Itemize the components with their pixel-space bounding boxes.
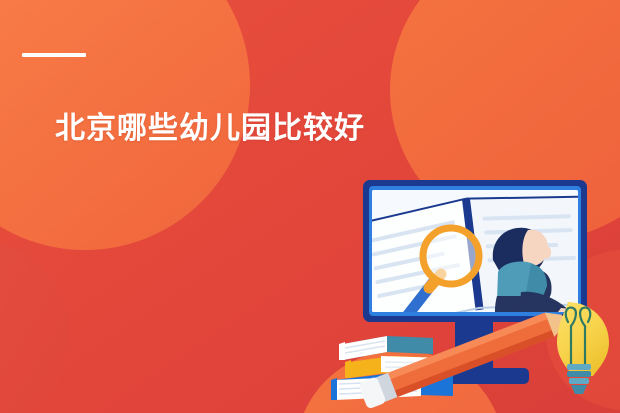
page-title: 北京哪些幼儿园比较好: [55, 110, 365, 148]
online-learning-illustration: [325, 168, 620, 413]
promo-banner: 北京哪些幼儿园比较好: [0, 0, 620, 413]
title-underline: [22, 53, 86, 57]
lightbulb-base: [567, 364, 591, 394]
lightbulb: [557, 302, 609, 394]
